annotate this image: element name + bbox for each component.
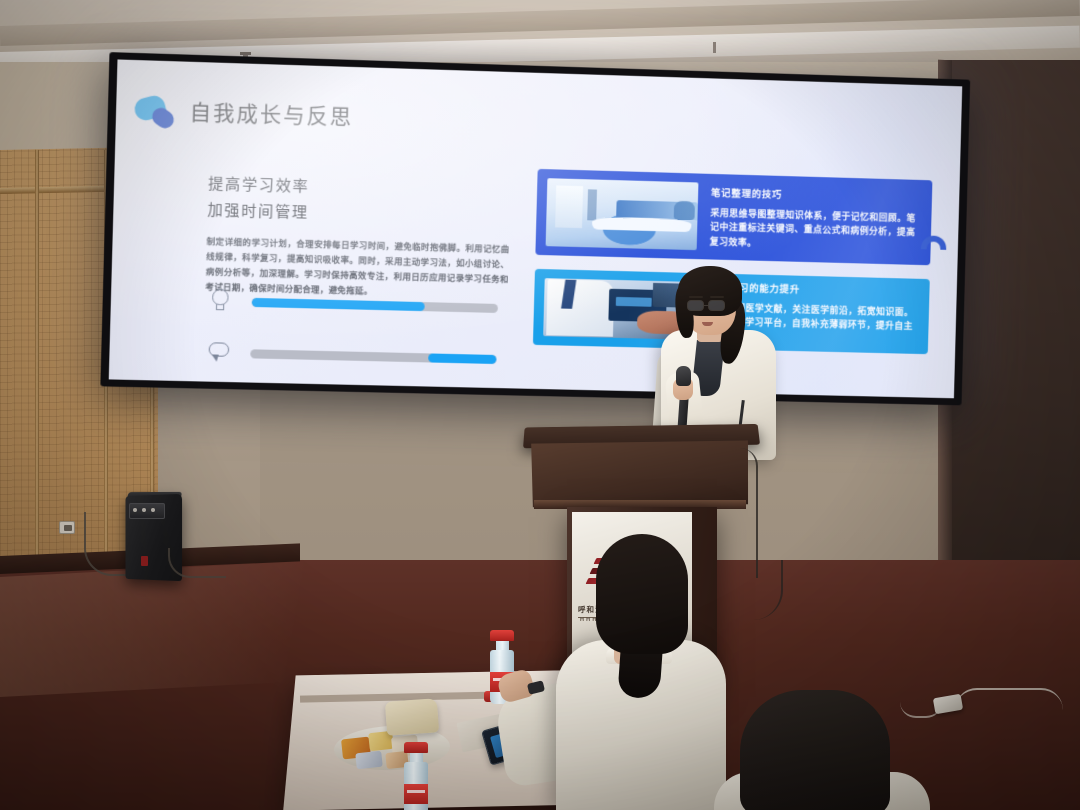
presentation-slide: 自我成长与反思 提高学习效率 加强时间管理 制定详细的学习计划，合理安排每日学习…	[109, 59, 963, 398]
pa-knob-icon[interactable]	[151, 508, 155, 512]
meter-fill	[428, 353, 497, 364]
pa-speaker-badge	[141, 556, 148, 566]
presenter-eyebrow	[710, 296, 724, 298]
seated-attendee-dark-hair	[740, 690, 890, 810]
blue-arch-icon	[921, 235, 947, 250]
power-cable	[955, 688, 1063, 710]
speaker-floor-cable	[168, 548, 226, 578]
pa-knob-icon[interactable]	[142, 508, 146, 512]
bottle-cap	[490, 630, 514, 641]
bottle-label	[404, 784, 428, 804]
water-bottle	[404, 742, 428, 810]
progress-meters	[203, 287, 499, 396]
eyeglasses-icon	[708, 300, 725, 311]
attendee-hair	[596, 534, 688, 654]
projector-mount-bracket	[240, 52, 251, 55]
meter-fill	[252, 297, 425, 310]
speech-bubble-icon	[203, 338, 234, 367]
ceiling-fixture	[713, 42, 716, 53]
pa-knob-icon[interactable]	[133, 508, 137, 512]
bottle-neck	[496, 641, 509, 650]
doctor-at-computer-photo	[543, 278, 696, 340]
meter-row	[205, 287, 499, 322]
wood-panel-seam	[35, 150, 39, 600]
bottle-cap	[404, 742, 428, 753]
meter-track	[250, 349, 496, 364]
lead-heading-line2: 加强时间管理	[207, 202, 309, 222]
bottle-body	[404, 762, 428, 810]
lead-heading: 提高学习效率 加强时间管理	[207, 171, 511, 232]
podium-desk	[531, 441, 748, 508]
wall-outlet[interactable]	[59, 521, 75, 534]
presenter-eyebrow	[689, 296, 703, 298]
slide-lead-block: 提高学习效率 加强时间管理 制定详细的学习计划，合理安排每日学习时间，避免临时抱…	[205, 171, 511, 302]
card-text-block: 笔记整理的技巧 采用思维导图整理知识体系，便于记忆和回顾。笔记中注重标注关键词、…	[697, 184, 923, 254]
slide-card-notes: 笔记整理的技巧 采用思维导图整理知识体系，便于记忆和回顾。笔记中注重标注关键词、…	[535, 169, 932, 265]
bottle-neck	[410, 753, 423, 762]
podium-cable	[740, 448, 758, 578]
lead-heading-line1: 提高学习效率	[208, 176, 310, 196]
card-body: 采用思维导图整理知识体系，便于记忆和回顾。笔记中注重标注关键词、重点公式和病例分…	[710, 205, 922, 254]
slide-surface: 自我成长与反思 提高学习效率 加强时间管理 制定详细的学习计划，合理安排每日学习…	[109, 59, 963, 398]
meter-row	[203, 338, 497, 373]
speaker-cable	[84, 512, 130, 576]
eyeglasses-icon	[687, 300, 704, 311]
microphone-icon[interactable]	[676, 366, 691, 386]
slide-title: 自我成长与反思	[189, 96, 353, 131]
led-display-screen: 自我成长与反思 提高学习效率 加强时间管理 制定详细的学习计划，合理安排每日学习…	[100, 52, 970, 405]
card-heading: 笔记整理的技巧	[711, 184, 923, 204]
meter-track	[252, 297, 498, 312]
lightbulb-icon	[205, 287, 236, 316]
slide-logo-icon	[134, 92, 182, 134]
conference-room-photo: 自我成长与反思 提高学习效率 加强时间管理 制定详细的学习计划，合理安排每日学习…	[0, 0, 1080, 810]
hospital-lobby-photo	[546, 178, 699, 250]
bread-roll	[385, 698, 439, 736]
snack-item	[355, 751, 383, 770]
eyeglasses-bridge	[704, 305, 708, 306]
